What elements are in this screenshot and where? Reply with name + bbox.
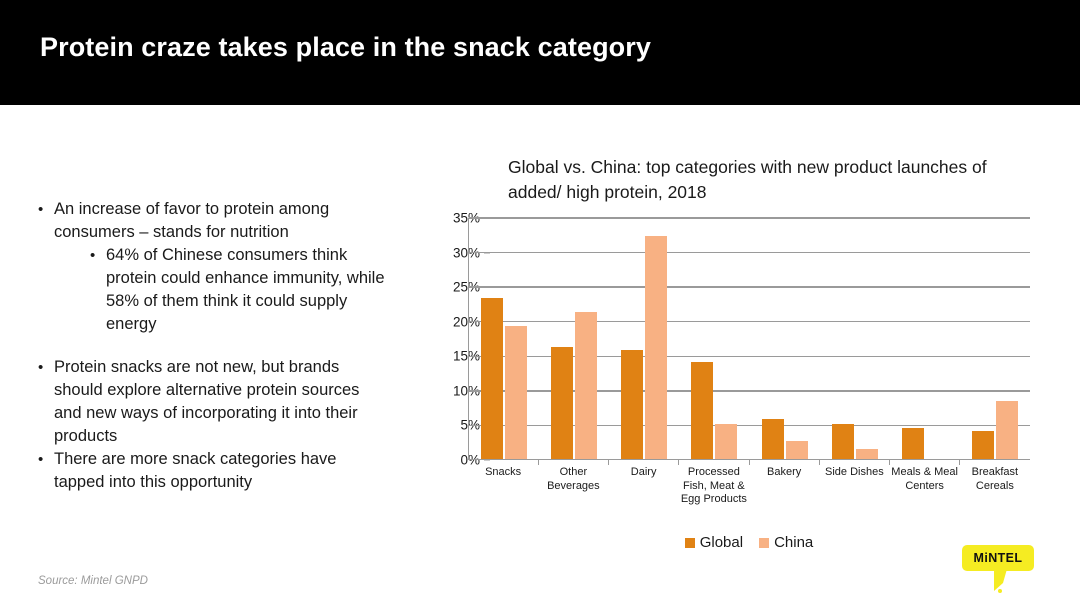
- x-axis-tick-mark: [678, 459, 679, 465]
- x-axis-tick-mark: [889, 459, 890, 465]
- bullet-group-gap: [38, 336, 390, 356]
- x-axis-tick-label: Bakery: [749, 466, 819, 507]
- x-axis-labels: SnacksOther BeveragesDairyProcessed Fish…: [468, 466, 1030, 507]
- bar-global[interactable]: [902, 428, 924, 459]
- bar-global[interactable]: [691, 362, 713, 459]
- bar-group[interactable]: [609, 218, 679, 459]
- chart-legend: GlobalChina: [468, 534, 1030, 551]
- legend-label: Global: [700, 534, 743, 551]
- x-axis-tick-label: Other Beverages: [538, 466, 608, 507]
- bar-china[interactable]: [645, 236, 667, 459]
- legend-swatch-icon: [759, 538, 769, 548]
- bar-group[interactable]: [890, 218, 960, 459]
- header-band: Protein craze takes place in the snack c…: [0, 0, 1080, 105]
- bullet-text: An increase of favor to protein among co…: [54, 198, 390, 244]
- x-axis-tick-mark: [959, 459, 960, 465]
- bullet-marker-icon: •: [38, 448, 54, 471]
- bullet-text: There are more snack categories have tap…: [54, 448, 390, 494]
- legend-label: China: [774, 534, 813, 551]
- bullet-marker-icon: •: [90, 244, 106, 267]
- logo-dot-icon: [998, 589, 1002, 593]
- bar-global[interactable]: [762, 419, 784, 459]
- x-axis-tick-label: Breakfast Cereals: [960, 466, 1030, 507]
- bar-group-container: [469, 218, 1030, 459]
- bullet-text: Protein snacks are not new, but brands s…: [54, 356, 390, 448]
- x-axis-tick-label: Meals & Meal Centers: [890, 466, 960, 507]
- bar-china[interactable]: [856, 449, 878, 459]
- bar-global[interactable]: [551, 347, 573, 459]
- bar-global[interactable]: [832, 424, 854, 459]
- bullet-marker-icon: •: [38, 356, 54, 379]
- bar-group[interactable]: [960, 218, 1030, 459]
- bar-global[interactable]: [972, 431, 994, 459]
- chart-title: Global vs. China: top categories with ne…: [508, 155, 1008, 205]
- logo-wordmark: MiNTEL: [974, 551, 1023, 565]
- x-axis-tick-mark: [608, 459, 609, 465]
- plot-wrapper: 35%30%25%20%15%10%5%0% SnacksOther Bever…: [440, 218, 1040, 460]
- mintel-logo: MiNTEL: [962, 545, 1034, 595]
- slide: Protein craze takes place in the snack c…: [0, 0, 1080, 608]
- bar-china[interactable]: [575, 312, 597, 459]
- bar-group[interactable]: [679, 218, 749, 459]
- legend-swatch-icon: [685, 538, 695, 548]
- logo-bubble: MiNTEL: [962, 545, 1034, 571]
- bar-china[interactable]: [786, 441, 808, 459]
- page-title: Protein craze takes place in the snack c…: [40, 32, 651, 63]
- x-axis-tick-mark: [819, 459, 820, 465]
- logo-tail-icon: [994, 569, 1007, 591]
- bar-china[interactable]: [505, 326, 527, 459]
- x-axis-tick-mark: [538, 459, 539, 465]
- bar-group[interactable]: [820, 218, 890, 459]
- legend-item-china[interactable]: China: [759, 534, 813, 551]
- bullet-item: •There are more snack categories have ta…: [38, 448, 390, 494]
- chart-block: Global vs. China: top categories with ne…: [440, 150, 1040, 540]
- bullet-item: •64% of Chinese consumers think protein …: [90, 244, 390, 336]
- bar-china[interactable]: [715, 424, 737, 459]
- x-axis-tick-label: Snacks: [468, 466, 538, 507]
- bar-china[interactable]: [996, 401, 1018, 459]
- x-axis-tick-label: Side Dishes: [819, 466, 889, 507]
- bullet-item: •An increase of favor to protein among c…: [38, 198, 390, 244]
- bar-group[interactable]: [539, 218, 609, 459]
- bar-global[interactable]: [621, 350, 643, 459]
- source-note: Source: Mintel GNPD: [38, 575, 148, 587]
- bullet-item: •Protein snacks are not new, but brands …: [38, 356, 390, 448]
- bar-group[interactable]: [750, 218, 820, 459]
- x-axis-tick-label: Dairy: [609, 466, 679, 507]
- x-axis-tick-mark: [749, 459, 750, 465]
- plot-area: [468, 218, 1030, 460]
- bar-global[interactable]: [481, 298, 503, 459]
- bullet-list: •An increase of favor to protein among c…: [38, 198, 390, 494]
- bullet-marker-icon: •: [38, 198, 54, 221]
- legend-item-global[interactable]: Global: [685, 534, 743, 551]
- x-axis-tick-label: Processed Fish, Meat & Egg Products: [679, 466, 749, 507]
- bullet-text: 64% of Chinese consumers think protein c…: [106, 244, 390, 336]
- bar-group[interactable]: [469, 218, 539, 459]
